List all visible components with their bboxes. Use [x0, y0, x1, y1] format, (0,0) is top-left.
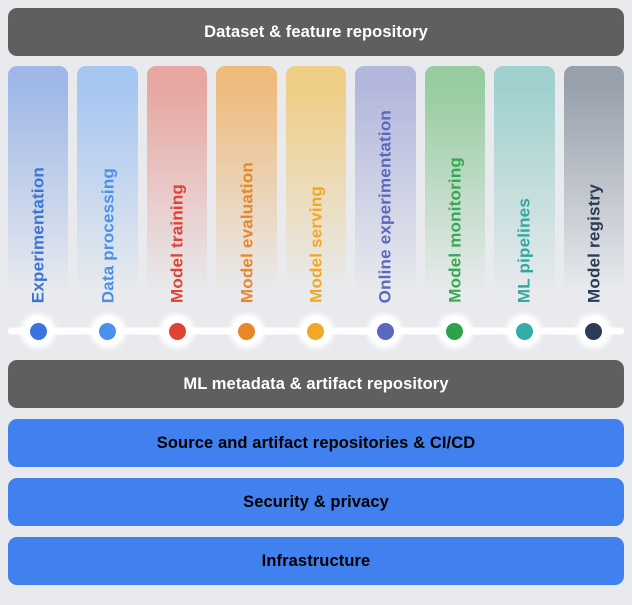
column-label-experimentation: Experimentation	[30, 167, 47, 303]
source-artifact-repositories-cicd-bar: Source and artifact repositories & CI/CD	[8, 419, 624, 467]
dataset-feature-repository-bar: Dataset & feature repository	[8, 8, 624, 56]
stage-dot-model-evaluation[interactable]	[238, 323, 255, 340]
dot-cell-model-registry	[564, 316, 624, 346]
dot-cell-experimentation	[8, 316, 68, 346]
column-online-experimentation[interactable]: Online experimentation	[355, 66, 415, 311]
column-label-online-experimentation: Online experimentation	[377, 110, 394, 303]
security-privacy-bar: Security & privacy	[8, 478, 624, 526]
column-label-model-registry: Model registry	[585, 184, 602, 303]
dot-cell-data-processing	[77, 316, 137, 346]
ml-metadata-artifact-repository-bar: ML metadata & artifact repository	[8, 360, 624, 408]
column-model-training[interactable]: Model training	[147, 66, 207, 311]
column-label-data-processing: Data processing	[99, 168, 116, 303]
stage-dot-model-registry[interactable]	[585, 323, 602, 340]
dot-halo-model-registry	[579, 316, 609, 346]
column-label-model-monitoring: Model monitoring	[446, 157, 463, 303]
stage-dot-model-serving[interactable]	[307, 323, 324, 340]
dot-halo-model-evaluation	[232, 316, 262, 346]
connector-dots	[8, 316, 624, 346]
dot-cell-model-evaluation	[216, 316, 276, 346]
column-model-monitoring[interactable]: Model monitoring	[425, 66, 485, 311]
stage-dot-data-processing[interactable]	[99, 323, 116, 340]
dot-cell-model-training	[147, 316, 207, 346]
dot-halo-ml-pipelines	[509, 316, 539, 346]
pipeline-connector-track	[8, 311, 624, 351]
dot-cell-model-monitoring	[425, 316, 485, 346]
dot-halo-model-training	[162, 316, 192, 346]
stage-dot-model-training[interactable]	[169, 323, 186, 340]
infrastructure-bar: Infrastructure	[8, 537, 624, 585]
stage-dot-experimentation[interactable]	[30, 323, 47, 340]
column-data-processing[interactable]: Data processing	[77, 66, 137, 311]
dot-cell-model-serving	[286, 316, 346, 346]
column-label-ml-pipelines: ML pipelines	[516, 198, 533, 303]
column-label-model-serving: Model serving	[307, 186, 324, 303]
stage-dot-online-experimentation[interactable]	[377, 323, 394, 340]
column-ml-pipelines[interactable]: ML pipelines	[494, 66, 554, 311]
column-model-evaluation[interactable]: Model evaluation	[216, 66, 276, 311]
dot-cell-ml-pipelines	[494, 316, 554, 346]
column-experimentation[interactable]: Experimentation	[8, 66, 68, 311]
mlops-diagram: Dataset & feature repository Experimenta…	[0, 0, 632, 605]
dot-halo-online-experimentation	[370, 316, 400, 346]
dot-halo-data-processing	[93, 316, 123, 346]
dot-halo-experimentation	[23, 316, 53, 346]
column-label-model-training: Model training	[169, 184, 186, 303]
column-label-model-evaluation: Model evaluation	[238, 162, 255, 303]
capability-columns: ExperimentationData processingModel trai…	[8, 66, 624, 311]
dot-halo-model-monitoring	[440, 316, 470, 346]
stage-dot-ml-pipelines[interactable]	[516, 323, 533, 340]
stage-dot-model-monitoring[interactable]	[446, 323, 463, 340]
column-model-registry[interactable]: Model registry	[564, 66, 624, 311]
dot-halo-model-serving	[301, 316, 331, 346]
column-model-serving[interactable]: Model serving	[286, 66, 346, 311]
dot-cell-online-experimentation	[355, 316, 415, 346]
